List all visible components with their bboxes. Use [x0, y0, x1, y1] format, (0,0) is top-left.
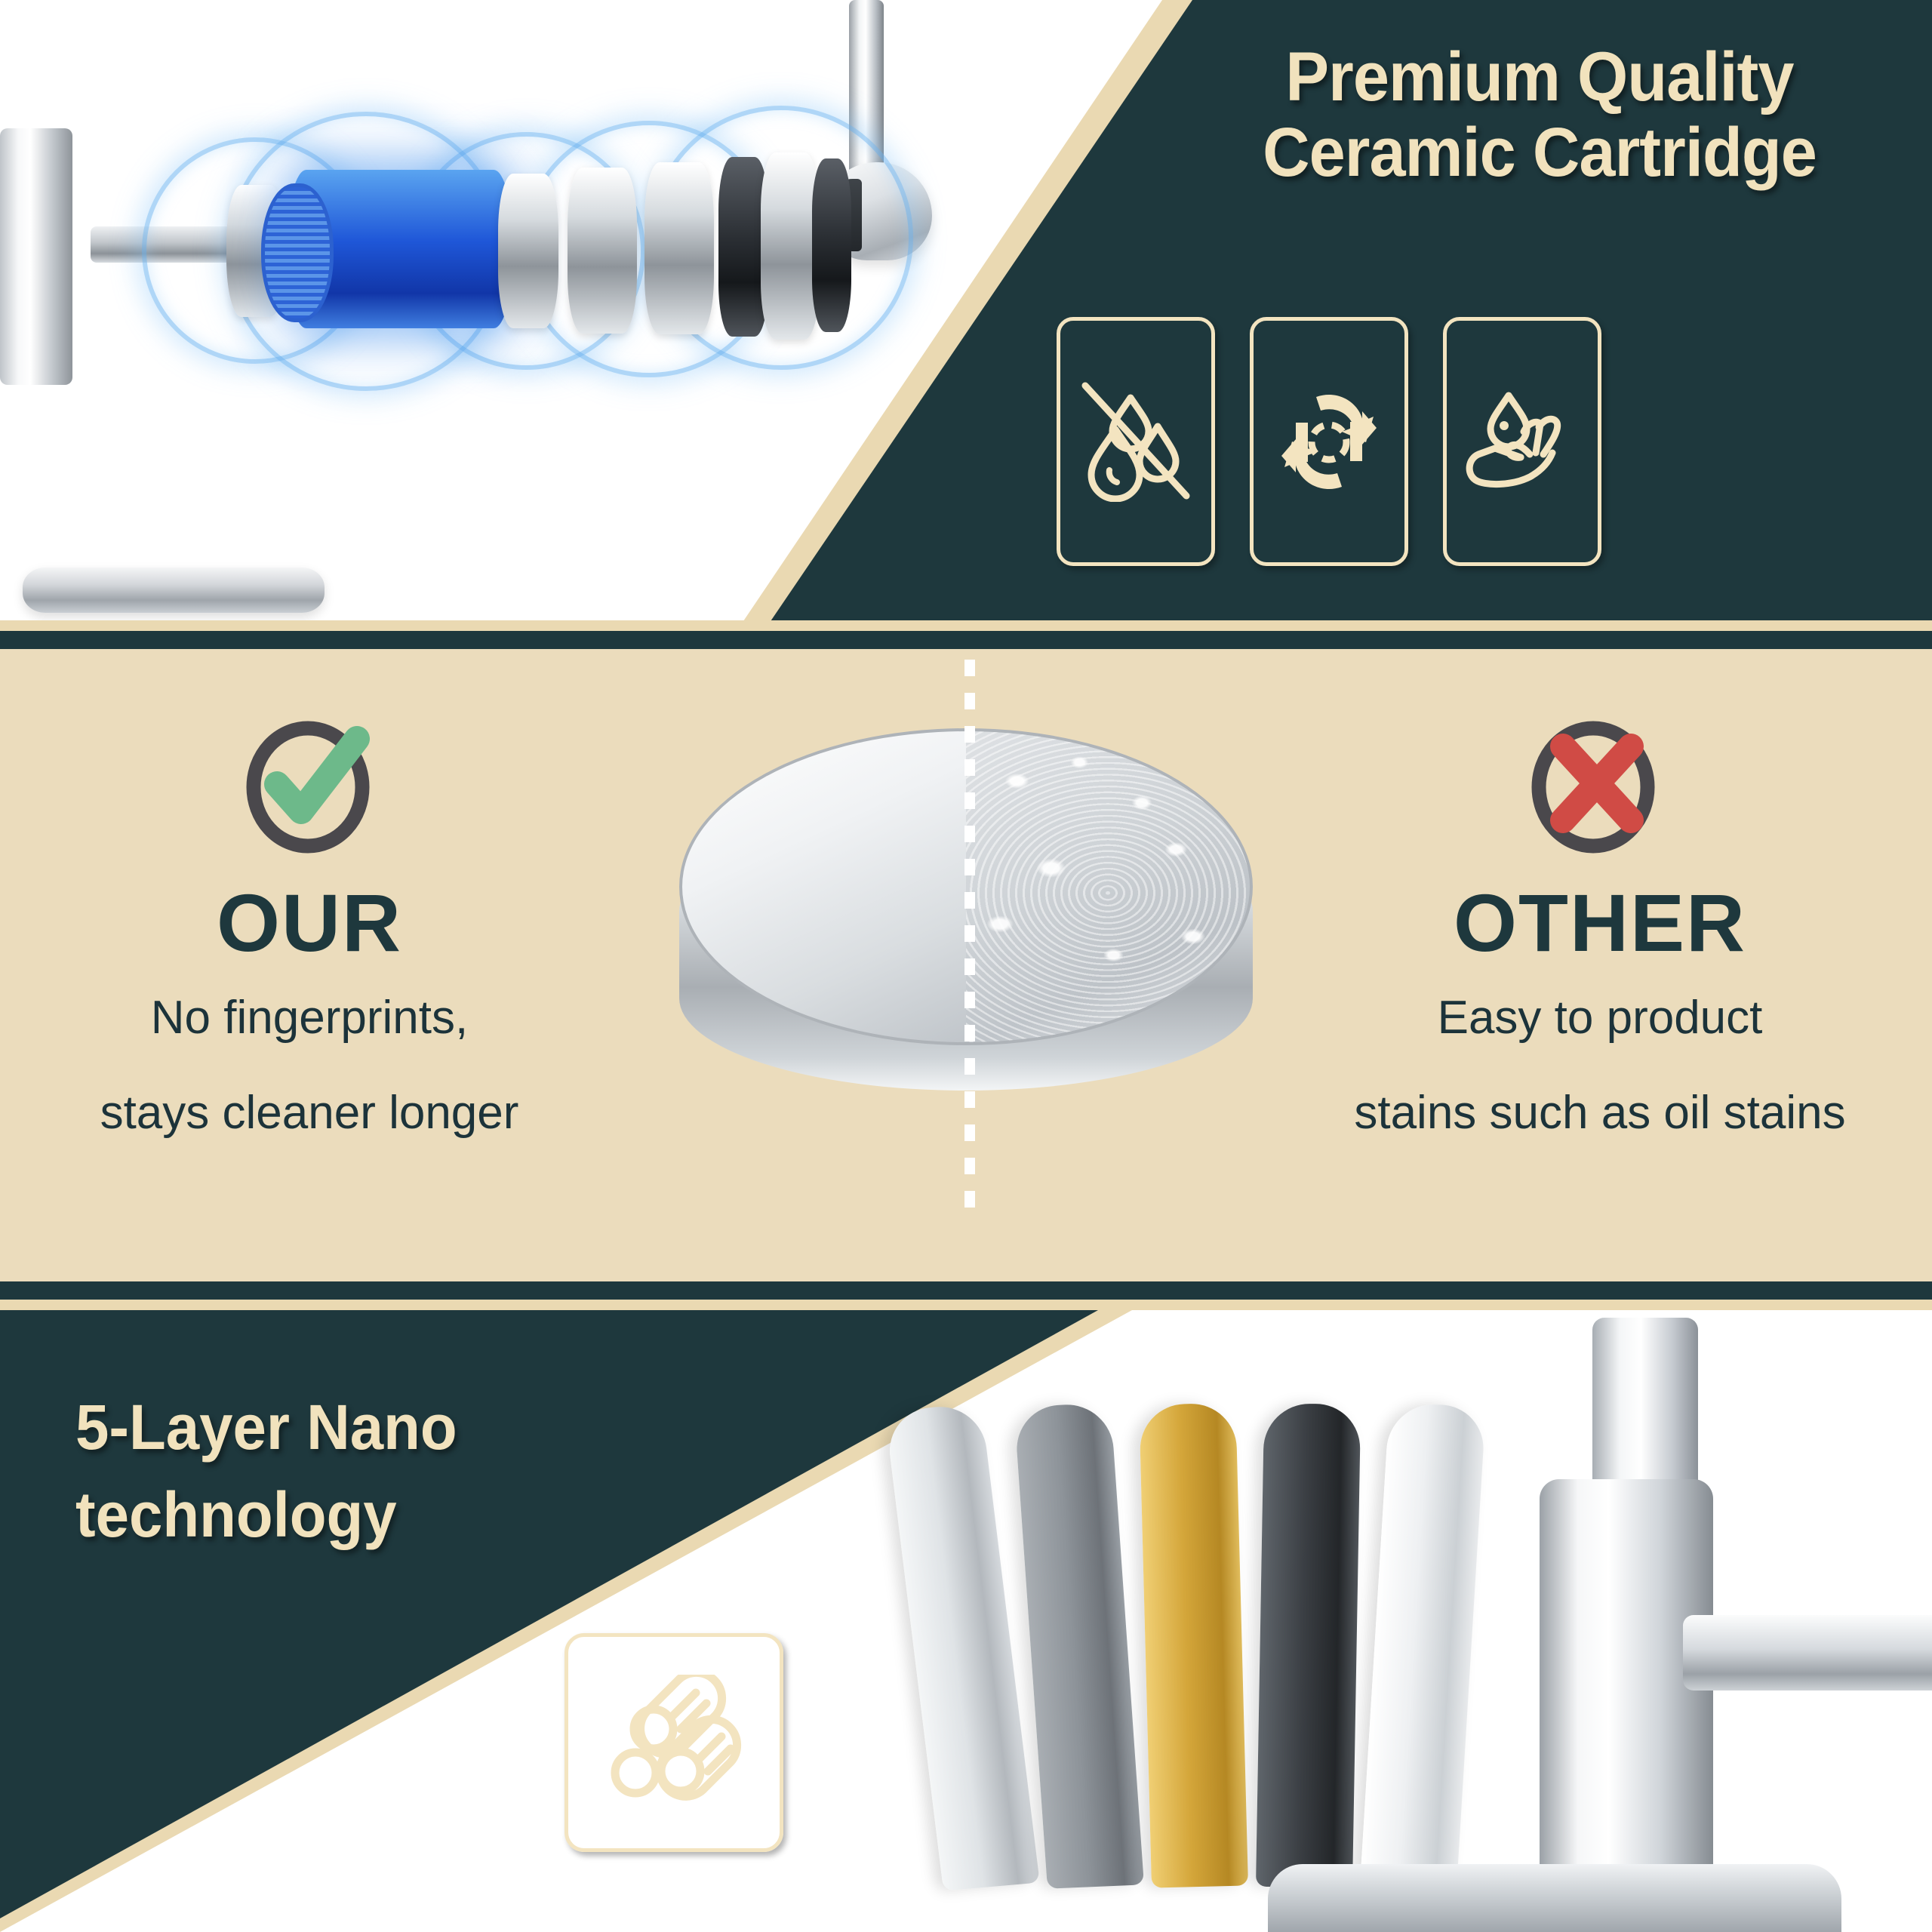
finish-layer-2 [1014, 1403, 1144, 1889]
faucet-column [0, 128, 72, 385]
product-infographic: Premium Quality Ceramic Cartridge [0, 0, 1932, 1932]
chrome-collar-3 [645, 162, 714, 334]
finish-layer-5 [1360, 1404, 1486, 1888]
other-heading: OTHER [1298, 875, 1902, 970]
finish-layer-fan [936, 1310, 1932, 1932]
bottom-panel: 5-Layer Nano technology [0, 1310, 1932, 1932]
other-line-2: stains such as oil stains [1298, 1078, 1902, 1148]
chrome-collar-2 [568, 168, 637, 334]
our-line-1: No fingerprints, [45, 983, 574, 1053]
bottom-title-line-2: technology [75, 1472, 663, 1559]
check-icon [45, 703, 574, 862]
faucet-deck-plate [1268, 1864, 1841, 1932]
hand-water-drop-icon [1443, 317, 1601, 566]
our-column: OUR No fingerprints, stays cleaner longe… [45, 703, 574, 1148]
faucet-handle-arm [1683, 1615, 1932, 1690]
seam-cream-top [0, 620, 1932, 631]
seam-teal-top [0, 631, 1932, 649]
faucet-base-plate [23, 568, 325, 613]
dashed-divider-line [964, 649, 975, 1215]
no-water-drip-icon [1057, 317, 1215, 566]
top-panel-content: Premium Quality Ceramic Cartridge [724, 0, 1932, 649]
top-panel-title: Premium Quality Ceramic Cartridge [1199, 39, 1880, 191]
bottom-panel-title: 5-Layer Nano technology [75, 1384, 663, 1559]
other-column: OTHER Easy to product stains such as oil… [1298, 703, 1902, 1148]
recycle-rotation-icon [1250, 317, 1408, 566]
comparison-panel: OUR No fingerprints, stays cleaner longe… [0, 649, 1932, 1281]
faucet-spout [1592, 1318, 1698, 1499]
comparison-disc [619, 657, 1321, 1275]
finish-layer-1 [884, 1403, 1040, 1890]
seam-cream-bottom [0, 1300, 1932, 1310]
top-panel: Premium Quality Ceramic Cartridge [0, 0, 1932, 649]
cross-icon [1298, 703, 1902, 862]
our-heading: OUR [45, 875, 574, 970]
finish-layer-3 [1139, 1403, 1248, 1888]
other-line-1: Easy to product [1298, 983, 1902, 1053]
faucet-body [1540, 1479, 1713, 1902]
fingerprint-stain-overlay [966, 731, 1250, 1042]
seam-teal-bottom [0, 1281, 1932, 1300]
our-line-2: stays cleaner longer [45, 1078, 574, 1148]
bottom-title-line-1: 5-Layer Nano [75, 1384, 663, 1472]
title-line-2: Ceramic Cartridge [1199, 115, 1880, 190]
feature-icon-row [1057, 317, 1932, 566]
stacked-layers-icon [565, 1633, 783, 1852]
chrome-collar-1 [498, 174, 558, 328]
finish-layer-4 [1256, 1404, 1361, 1887]
title-line-1: Premium Quality [1199, 39, 1880, 115]
blue-ceramic-core [287, 170, 513, 328]
